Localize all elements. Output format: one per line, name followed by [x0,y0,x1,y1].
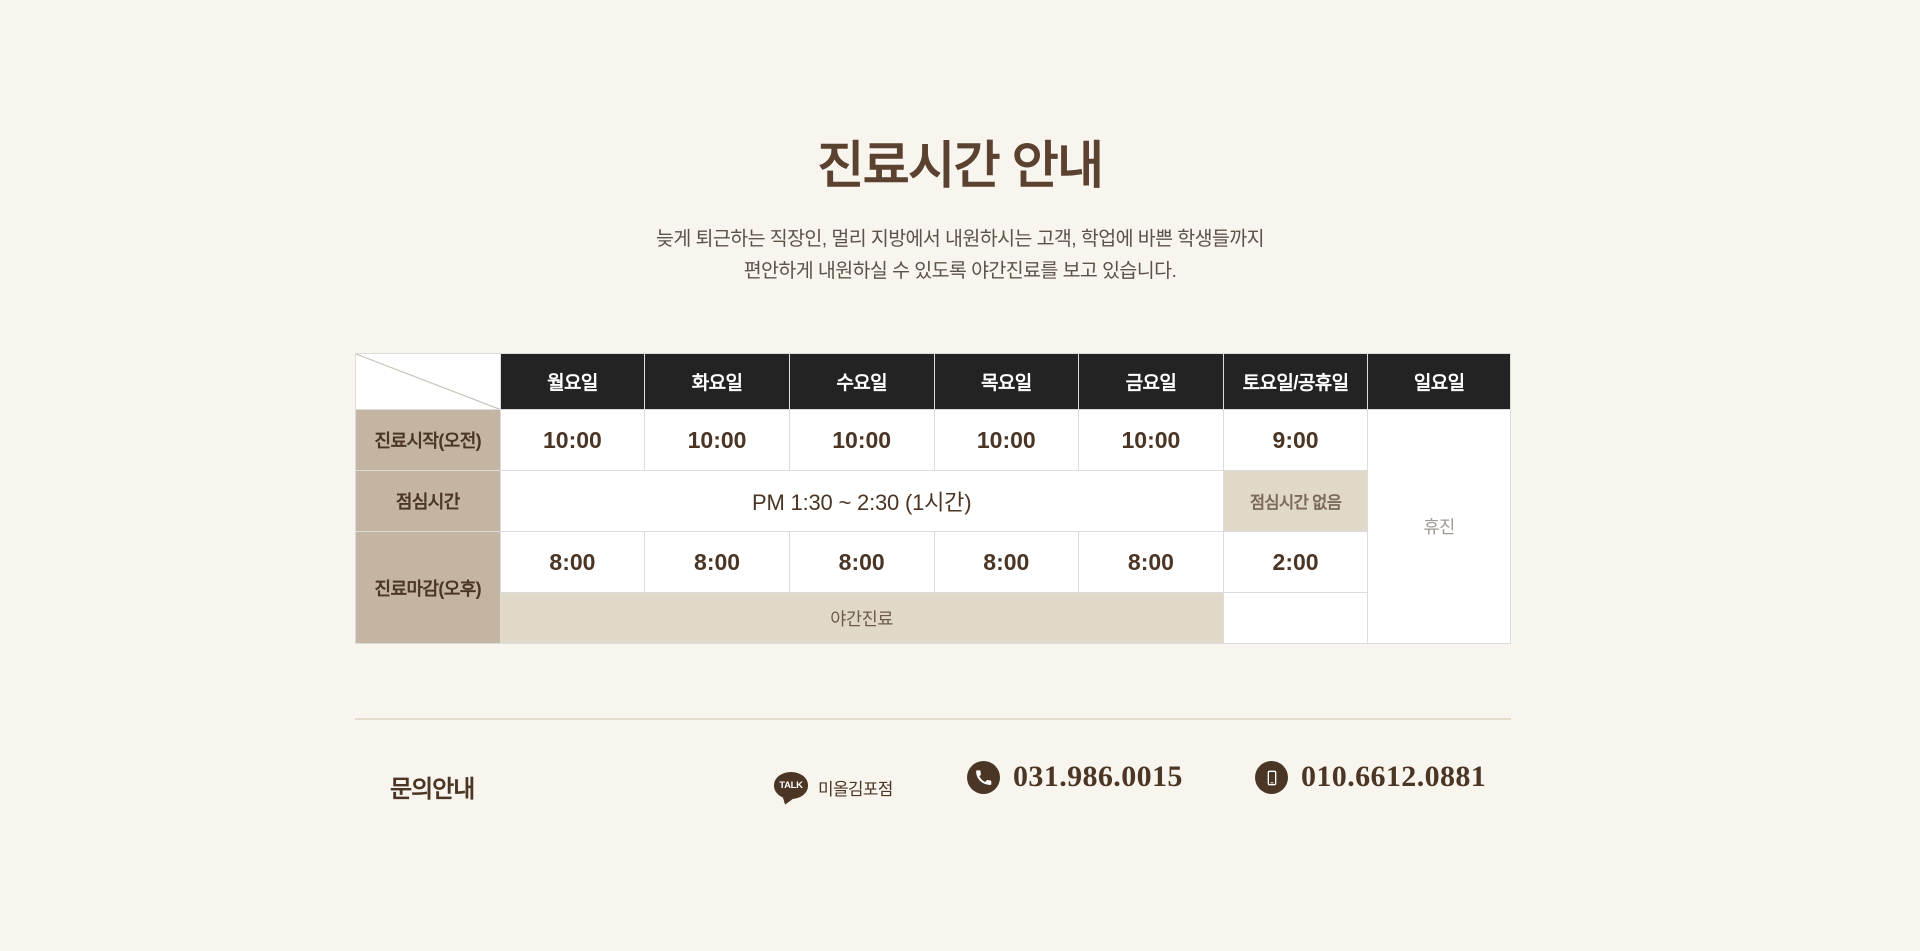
schedule-table-wrapper: 월요일 화요일 수요일 목요일 금요일 토요일/공휴일 일요일 진료시작(오전)… [355,353,1511,644]
open-time-wednesday: 10:00 [789,410,934,471]
schedule-table-body: 진료시작(오전) 10:00 10:00 10:00 10:00 10:00 9… [356,410,1511,644]
contact-mobile[interactable]: 010.6612.0881 [1255,761,1486,794]
table-header-row: 월요일 화요일 수요일 목요일 금요일 토요일/공휴일 일요일 [356,354,1511,410]
row-label-close: 진료마감(오후) [356,532,501,644]
lunch-time-weekday: PM 1:30 ~ 2:30 (1시간) [500,471,1223,532]
column-header-wednesday: 수요일 [789,354,934,410]
page-subtitle-line-1: 늦게 퇴근하는 직장인, 멀리 지방에서 내원하시는 고객, 학업에 바쁜 학생… [0,224,1920,256]
column-header-tuesday: 화요일 [645,354,790,410]
close-time-saturday: 2:00 [1223,532,1368,593]
column-header-saturday-holiday: 토요일/공휴일 [1223,354,1368,410]
schedule-page: 진료시간 안내 늦게 퇴근하는 직장인, 멀리 지방에서 내원하시는 고객, 학… [0,0,1920,951]
close-time-tuesday: 8:00 [645,532,790,593]
contact-kakao[interactable]: TALK 미올김포점 [774,772,893,803]
diagonal-slash-icon [356,354,500,409]
night-care-band: 야간진료 [500,593,1223,644]
contact-telephone[interactable]: 031.986.0015 [967,761,1183,794]
contact-telephone-number: 031.986.0015 [1013,762,1183,794]
contact-section: 문의안내 TALK 미올김포점 031.986.0015 [355,758,1511,818]
page-header: 진료시간 안내 늦게 퇴근하는 직장인, 멀리 지방에서 내원하시는 고객, 학… [0,0,1920,287]
phone-icon [967,761,1000,794]
open-time-monday: 10:00 [500,410,645,471]
close-time-wednesday: 8:00 [789,532,934,593]
schedule-table-head: 월요일 화요일 수요일 목요일 금요일 토요일/공휴일 일요일 [356,354,1511,410]
table-row-open: 진료시작(오전) 10:00 10:00 10:00 10:00 10:00 9… [356,410,1511,471]
open-time-friday: 10:00 [1079,410,1224,471]
open-time-saturday: 9:00 [1223,410,1368,471]
sunday-status-cell: 휴진 [1368,410,1511,644]
section-divider [355,718,1511,720]
page-subtitle-line-2: 편안하게 내원하실 수 있도록 야간진료를 보고 있습니다. [0,256,1920,288]
contact-mobile-number: 010.6612.0881 [1301,762,1486,794]
row-label-open: 진료시작(오전) [356,410,501,471]
open-time-tuesday: 10:00 [645,410,790,471]
mobile-phone-icon [1255,761,1288,794]
kakaotalk-icon-text: TALK [779,781,802,791]
column-header-monday: 월요일 [500,354,645,410]
lunch-time-saturday: 점심시간 없음 [1223,471,1368,532]
open-time-thursday: 10:00 [934,410,1079,471]
row-label-lunch: 점심시간 [356,471,501,532]
close-time-thursday: 8:00 [934,532,1079,593]
column-header-friday: 금요일 [1079,354,1224,410]
table-row-lunch: 점심시간 PM 1:30 ~ 2:30 (1시간) 점심시간 없음 [356,471,1511,532]
close-time-friday: 8:00 [1079,532,1224,593]
table-row-night-care: 야간진료 [356,593,1511,644]
close-time-monday: 8:00 [500,532,645,593]
schedule-table: 월요일 화요일 수요일 목요일 금요일 토요일/공휴일 일요일 진료시작(오전)… [355,353,1511,644]
page-subtitle: 늦게 퇴근하는 직장인, 멀리 지방에서 내원하시는 고객, 학업에 바쁜 학생… [0,194,1920,287]
contact-title: 문의안내 [390,769,474,804]
column-header-thursday: 목요일 [934,354,1079,410]
kakaotalk-icon: TALK [774,772,808,803]
table-corner-cell [356,354,501,410]
page-title: 진료시간 안내 [0,0,1920,194]
contact-kakao-label: 미올김포점 [818,775,893,800]
table-row-close: 진료마감(오후) 8:00 8:00 8:00 8:00 8:00 2:00 [356,532,1511,593]
night-care-saturday-empty [1223,593,1368,644]
column-header-sunday: 일요일 [1368,354,1511,410]
